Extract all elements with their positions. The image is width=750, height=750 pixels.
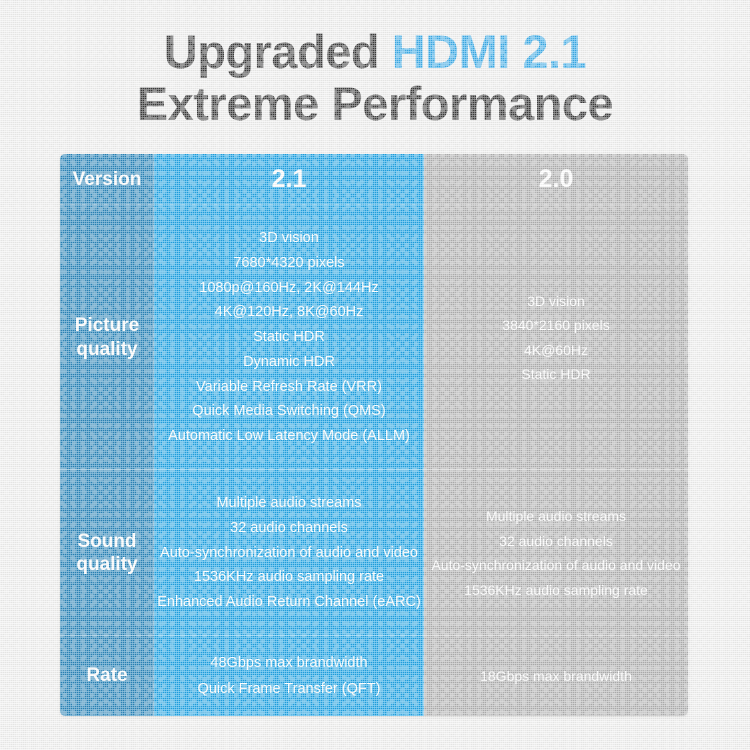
row-label-cell-sound-quality: Sound quality (60, 470, 154, 636)
spec-line: Multiple audio streams (431, 504, 680, 529)
spec-line: Multiple audio streams (157, 491, 421, 516)
page-title-prefix: Upgraded (164, 25, 392, 78)
table-header-cell-20: 2.0 (424, 154, 688, 205)
spec-line: Static HDR (168, 325, 410, 350)
spec-list-rate-20: 18Gbps max brandwidth (476, 663, 636, 689)
version-20-value: 2.0 (539, 165, 574, 194)
cell-rate-20: 18Gbps max brandwidth (424, 636, 688, 716)
cell-sound-quality-21: Multiple audio streams 32 audio channels… (154, 470, 424, 636)
table-header-version-label: Version (73, 168, 142, 191)
spec-line: 3D vision (502, 289, 609, 314)
spec-line: Dynamic HDR (168, 350, 410, 375)
table-row-sound-quality: Sound quality Multiple audio streams 32 … (60, 470, 688, 636)
row-label-line: Sound (77, 531, 136, 552)
spec-line: 7680*4320 pixels (168, 251, 410, 276)
page-title-line-2: Extreme Performance (0, 78, 750, 130)
row-label-line: Picture (75, 315, 139, 336)
row-label-line: quality (76, 339, 137, 360)
spec-list-picture-quality-20: 3D vision 3840*2160 pixels 4K@60Hz Stati… (498, 289, 613, 387)
spec-line: 32 audio channels (157, 516, 421, 541)
page-root: Upgraded HDMI 2.1 Extreme Performance Ve… (0, 0, 750, 750)
row-label-line: Rate (86, 665, 127, 686)
table-header-row: Version 2.1 2.0 (60, 154, 688, 205)
spec-list-sound-quality-20: Multiple audio streams 32 audio channels… (427, 504, 684, 602)
page-title-line-1: Upgraded HDMI 2.1 (0, 26, 750, 78)
table-header-cell-version: Version (60, 154, 154, 205)
row-label-line: quality (76, 554, 137, 575)
spec-line: Auto-synchronization of audio and video (431, 553, 680, 578)
spec-line: 3840*2160 pixels (502, 313, 609, 338)
spec-comparison-table: Version 2.1 2.0 Picture quality 3D visio… (60, 154, 688, 716)
spec-line: 1536KHz audio sampling rate (431, 578, 680, 603)
row-label-cell-picture-quality: Picture quality (60, 205, 154, 470)
cell-picture-quality-21: 3D vision 7680*4320 pixels 1080p@160Hz, … (154, 205, 424, 470)
spec-line: 48Gbps max brandwidth (198, 650, 381, 676)
spec-list-picture-quality-21: 3D vision 7680*4320 pixels 1080p@160Hz, … (164, 226, 414, 449)
table-row-rate: Rate 48Gbps max brandwidth Quick Frame T… (60, 636, 688, 716)
spec-line: Static HDR (502, 362, 609, 387)
spec-list-rate-21: 48Gbps max brandwidth Quick Frame Transf… (194, 650, 385, 702)
spec-list-sound-quality-21: Multiple audio streams 32 audio channels… (153, 491, 425, 615)
spec-line: Quick Frame Transfer (QFT) (198, 676, 381, 702)
page-title-accent-hdmi-version: HDMI 2.1 (392, 25, 587, 78)
spec-line: 4K@120Hz, 8K@60Hz (168, 300, 410, 325)
row-label-picture-quality: Picture quality (60, 314, 154, 360)
spec-line: Quick Media Switching (QMS) (168, 399, 410, 424)
spec-line: 1536KHz audio sampling rate (157, 565, 421, 590)
cell-picture-quality-20: 3D vision 3840*2160 pixels 4K@60Hz Stati… (424, 205, 688, 470)
table-header-cell-21: 2.1 (154, 154, 424, 205)
page-title: Upgraded HDMI 2.1 Extreme Performance (0, 26, 750, 129)
spec-line: 18Gbps max brandwidth (480, 663, 632, 689)
spec-line: 32 audio channels (431, 529, 680, 554)
cell-rate-21: 48Gbps max brandwidth Quick Frame Transf… (154, 636, 424, 716)
spec-line: Auto-synchronization of audio and video (157, 541, 421, 566)
table-row-picture-quality: Picture quality 3D vision 7680*4320 pixe… (60, 205, 688, 470)
spec-line: Enhanced Audio Return Channel (eARC) (157, 590, 421, 615)
cell-sound-quality-20: Multiple audio streams 32 audio channels… (424, 470, 688, 636)
spec-line: 3D vision (168, 226, 410, 251)
row-label-sound-quality: Sound quality (60, 530, 154, 576)
spec-line: 1080p@160Hz, 2K@144Hz (168, 276, 410, 301)
spec-line: 4K@60Hz (502, 338, 609, 363)
spec-line: Variable Refresh Rate (VRR) (168, 375, 410, 400)
row-label-cell-rate: Rate (60, 636, 154, 716)
version-21-value: 2.1 (272, 165, 307, 194)
row-label-rate: Rate (86, 664, 127, 687)
spec-line: Automatic Low Latency Mode (ALLM) (168, 424, 410, 449)
